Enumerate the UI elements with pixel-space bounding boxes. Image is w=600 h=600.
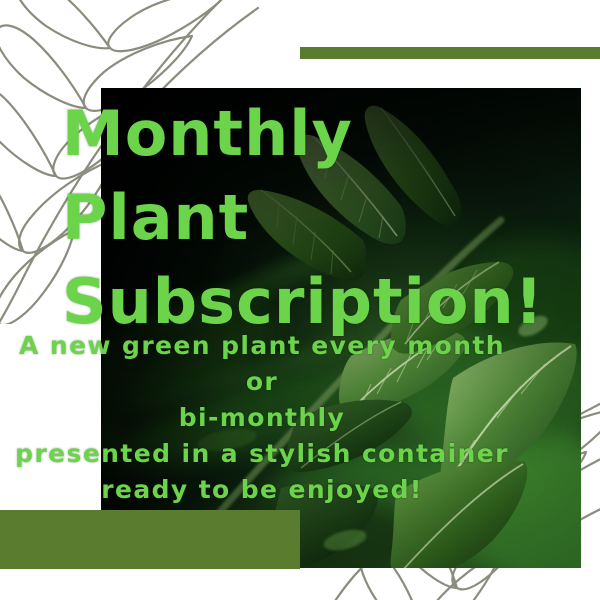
poster-canvas: Monthly Plant Subscription! A new green … bbox=[0, 0, 600, 600]
bottom-green-block bbox=[0, 510, 300, 569]
top-green-bar bbox=[300, 47, 600, 59]
plant-photo bbox=[101, 88, 581, 568]
